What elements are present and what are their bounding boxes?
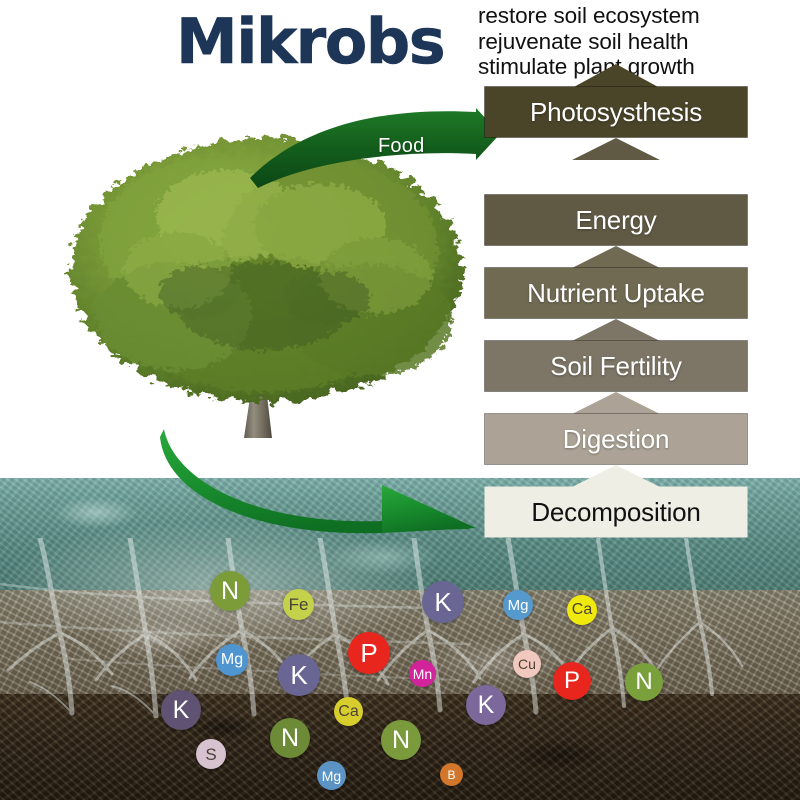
process-chevron-connector bbox=[572, 246, 660, 268]
process-chevron-connector bbox=[572, 138, 660, 160]
process-chevron-connector bbox=[572, 392, 660, 414]
decomposition-arrow bbox=[160, 425, 510, 535]
deep-soil-layer bbox=[0, 694, 800, 800]
process-step-digestion: Digestion bbox=[484, 413, 748, 465]
food-arrow-label: Food bbox=[378, 135, 424, 158]
tagline-line-1: restore soil ecosystem bbox=[478, 3, 798, 29]
process-step-label: Nutrient Uptake bbox=[484, 267, 748, 319]
process-step-energy: Energy bbox=[484, 194, 748, 246]
process-chain: PhotosysthesisEnergyNutrient UptakeSoil … bbox=[484, 86, 748, 538]
process-step-label: Decomposition bbox=[484, 486, 748, 538]
process-step-photosysthesis: Photosysthesis bbox=[484, 86, 748, 138]
process-chevron-connector bbox=[572, 465, 660, 487]
tagline-line-2: rejuvenate soil health bbox=[478, 29, 798, 55]
process-step-decomposition: Decomposition bbox=[484, 486, 748, 538]
process-chevron-connector bbox=[572, 319, 660, 341]
process-step-label: Photosysthesis bbox=[484, 86, 748, 138]
process-step-soil-fertility: Soil Fertility bbox=[484, 340, 748, 392]
root-mat-soil-layer bbox=[0, 590, 800, 710]
brand-logo: Mikrobs bbox=[176, 4, 466, 80]
infographic-page: Mikrobs restore soil ecosystem rejuvenat… bbox=[0, 0, 800, 800]
food-arrow bbox=[250, 108, 500, 188]
process-step-label: Soil Fertility bbox=[484, 340, 748, 392]
process-step-label: Energy bbox=[484, 194, 748, 246]
process-step-nutrient-uptake: Nutrient Uptake bbox=[484, 267, 748, 319]
process-chevron-top bbox=[572, 64, 660, 88]
process-step-label: Digestion bbox=[484, 413, 748, 465]
